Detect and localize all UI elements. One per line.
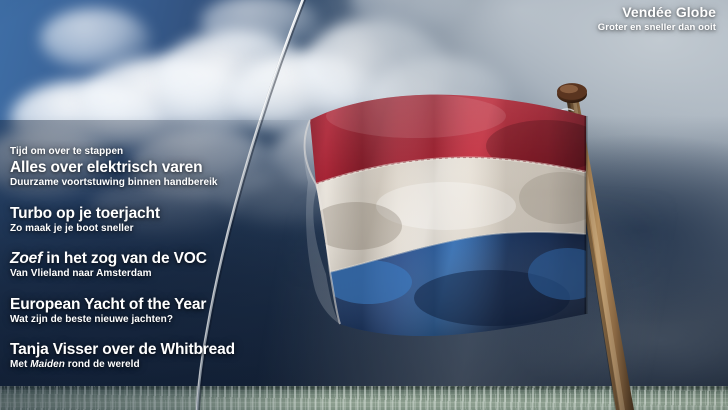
cover-subline-post: rond de wereld: [65, 359, 140, 370]
cover-line-item: Zoef in het zog van de VOC Van Vlieland …: [10, 249, 310, 281]
cover-subline: Duurzame voortstuwing binnen handbereik: [10, 177, 310, 190]
cover-headline: Tanja Visser over de Whitbread: [10, 340, 310, 359]
cover-line-item: Tanja Visser over de Whitbread Met Maide…: [10, 340, 310, 372]
cover-lines-list: Tijd om over te stappen Alles over elekt…: [10, 146, 310, 372]
cover-headline: Turbo op je toerjacht: [10, 204, 310, 223]
cover-subline-italic: Maiden: [30, 359, 65, 370]
cover-headline: Zoef in het zog van de VOC: [10, 249, 310, 268]
cover-subline: Wat zijn de beste nieuwe jachten?: [10, 314, 310, 327]
header-title: Vendée Globe: [598, 4, 716, 20]
header-block: Vendée Globe Groter en sneller dan ooit: [598, 4, 716, 34]
cover-headline-rest: in het zog van de VOC: [42, 250, 207, 267]
magazine-cover-image: Vendée Globe Groter en sneller dan ooit …: [0, 0, 728, 410]
cover-kicker: Tijd om over te stappen: [10, 146, 310, 158]
cover-line-item: European Yacht of the Year Wat zijn de b…: [10, 295, 310, 327]
cover-subline: Zo maak je je boot sneller: [10, 223, 310, 236]
dutch-flag: [296, 86, 596, 351]
cover-line-item: Turbo op je toerjacht Zo maak je je boot…: [10, 204, 310, 236]
cover-subline: Van Vlieland naar Amsterdam: [10, 268, 310, 281]
cover-subline: Met Maiden rond de wereld: [10, 359, 310, 372]
cover-headline: Alles over elektrisch varen: [10, 158, 310, 177]
cover-subline-pre: Met: [10, 359, 30, 370]
cover-headline-italic: Zoef: [10, 250, 42, 267]
cover-line-item: Tijd om over te stappen Alles over elekt…: [10, 146, 310, 190]
cover-headline: European Yacht of the Year: [10, 295, 310, 314]
header-subtitle: Groter en sneller dan ooit: [598, 21, 716, 34]
